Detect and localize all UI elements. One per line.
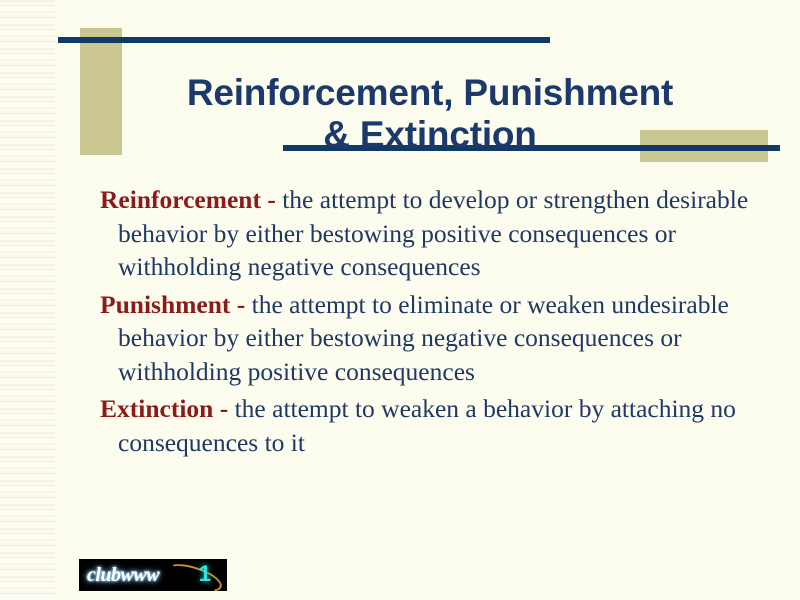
presentation-slide: Reinforcement, Punishment & Extinction R… bbox=[0, 0, 800, 600]
clubwww1-logo-swoosh-icon bbox=[163, 559, 225, 591]
list-item: Reinforcement - the attempt to develop o… bbox=[100, 183, 760, 284]
definition-list: Reinforcement - the attempt to develop o… bbox=[100, 183, 760, 463]
left-stripe-decoration bbox=[0, 0, 58, 600]
clubwww1-logo-wordmark: clubwww bbox=[87, 563, 159, 587]
page-title: Reinforcement, Punishment & Extinction bbox=[120, 72, 740, 156]
definition-dash: - bbox=[230, 290, 251, 319]
definition-dash: - bbox=[213, 394, 234, 423]
page-title-line-1: Reinforcement, Punishment bbox=[120, 72, 740, 114]
definition-term: Extinction bbox=[100, 394, 213, 423]
title-rule-top bbox=[58, 37, 550, 43]
list-item: Extinction - the attempt to weaken a beh… bbox=[100, 392, 760, 459]
definition-dash: - bbox=[261, 185, 282, 214]
clubwww1-logo-numeral: 1 bbox=[199, 562, 211, 586]
clubwww1-logo: clubwww 1 bbox=[79, 559, 227, 591]
page-title-line-2: & Extinction bbox=[120, 114, 740, 156]
list-item: Punishment - the attempt to eliminate or… bbox=[100, 288, 760, 389]
title-khaki-vertical-block bbox=[80, 28, 122, 155]
definition-term: Punishment bbox=[100, 290, 230, 319]
definition-term: Reinforcement bbox=[100, 185, 261, 214]
